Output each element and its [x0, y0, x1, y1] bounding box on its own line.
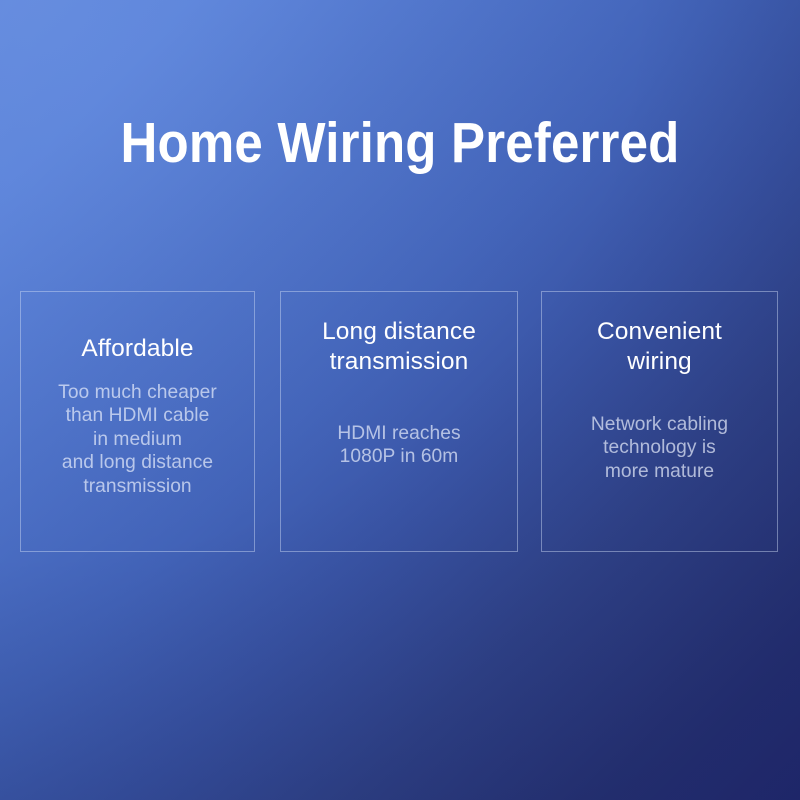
card-body: Too much cheaper than HDMI cable in medi…	[58, 381, 217, 498]
card-body-line: HDMI reaches	[337, 422, 460, 445]
card-title-line: Long distance	[322, 317, 476, 347]
page-title: Home Wiring Preferred	[42, 108, 758, 178]
card-body-line: in medium	[58, 428, 217, 451]
feature-card-row: Affordable Too much cheaper than HDMI ca…	[20, 291, 778, 552]
feature-card-convenient-wiring: Convenient wiring Network cabling techno…	[541, 291, 778, 552]
card-body-line: than HDMI cable	[58, 404, 217, 427]
card-body-line: technology is	[591, 436, 728, 459]
card-body-line: and long distance	[58, 451, 217, 474]
card-body: Network cabling technology is more matur…	[591, 413, 728, 483]
card-body-line: 1080P in 60m	[337, 445, 460, 468]
card-title: Convenient wiring	[597, 317, 722, 377]
card-body: HDMI reaches 1080P in 60m	[337, 422, 460, 469]
poster-canvas: Home Wiring Preferred Affordable Too muc…	[0, 0, 800, 800]
card-title-line: Convenient	[597, 317, 722, 347]
card-title-line: wiring	[597, 347, 722, 377]
card-body-line: Network cabling	[591, 413, 728, 436]
card-title-line: Affordable	[81, 334, 193, 364]
card-body-line: transmission	[58, 475, 217, 498]
card-body-line: more mature	[591, 460, 728, 483]
feature-card-long-distance-transmission: Long distance transmission HDMI reaches …	[280, 291, 518, 552]
card-title: Long distance transmission	[322, 317, 476, 377]
card-title: Affordable	[81, 334, 193, 364]
card-body-line: Too much cheaper	[58, 381, 217, 404]
card-title-line: transmission	[322, 347, 476, 377]
feature-card-affordable: Affordable Too much cheaper than HDMI ca…	[20, 291, 255, 552]
